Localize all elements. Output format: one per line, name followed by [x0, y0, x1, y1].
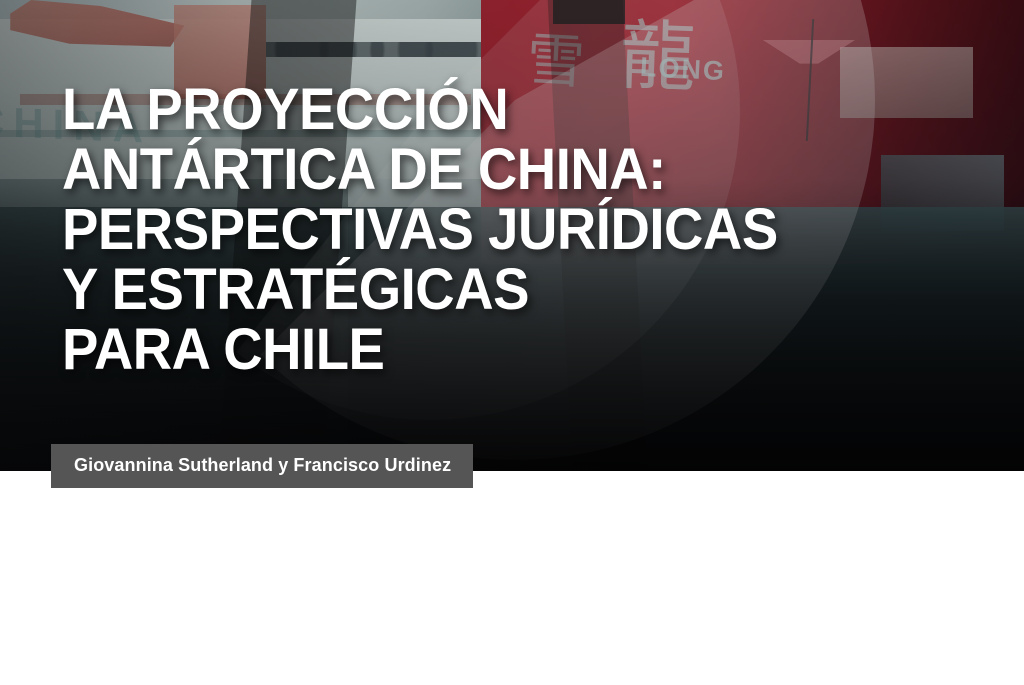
title-line-3: PERSPECTIVAS JURÍDICAS — [62, 200, 908, 260]
title-line-2: ANTÁRTICA DE CHINA: — [62, 140, 908, 200]
sponsor-logo-strip: Agencia Nacional de Investigación y Desa… — [0, 471, 1024, 685]
title-line-5: PARA CHILE — [62, 320, 908, 380]
hero-banner: CHINA 雪 龍 LONG LA PROYECCIÓN ANTÁRTICA D… — [0, 0, 1024, 471]
page-title: LA PROYECCIÓN ANTÁRTICA DE CHINA: PERSPE… — [62, 80, 908, 380]
title-line-4: Y ESTRATÉGICAS — [62, 260, 908, 320]
authors-byline: Giovannina Sutherland y Francisco Urdine… — [51, 444, 473, 488]
title-line-1: LA PROYECCIÓN — [62, 80, 908, 140]
poster-cover: CHINA 雪 龍 LONG LA PROYECCIÓN ANTÁRTICA D… — [0, 0, 1024, 685]
